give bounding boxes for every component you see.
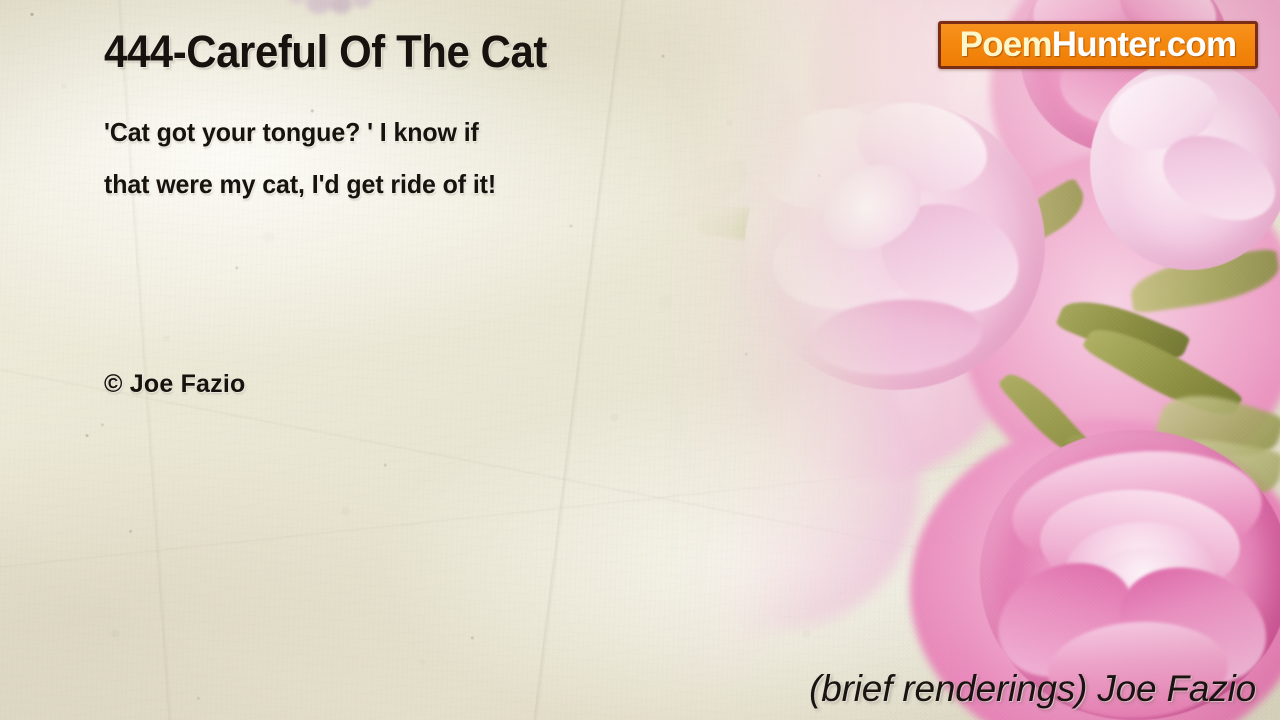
page-title: 444-Careful Of The Cat bbox=[104, 26, 547, 78]
poemhunter-logo-text: PoemHunter.com bbox=[960, 27, 1237, 62]
poem-line: that were my cat, I'd get ride of it! bbox=[104, 158, 718, 210]
logo-text-hunter: Hunter.com bbox=[1052, 25, 1237, 64]
poemhunter-logo[interactable]: PoemHunter.com bbox=[938, 21, 1258, 69]
poem-body: 'Cat got your tongue? ' I know if that w… bbox=[104, 106, 718, 210]
collection-caption: (brief renderings) Joe Fazio bbox=[809, 668, 1256, 710]
copyright-credit: © Joe Fazio bbox=[104, 370, 245, 399]
logo-text-poem: Poem bbox=[960, 25, 1052, 64]
poem-line: 'Cat got your tongue? ' I know if bbox=[104, 106, 718, 158]
poem-image-card: 444-Careful Of The Cat 'Cat got your ton… bbox=[0, 0, 1280, 720]
